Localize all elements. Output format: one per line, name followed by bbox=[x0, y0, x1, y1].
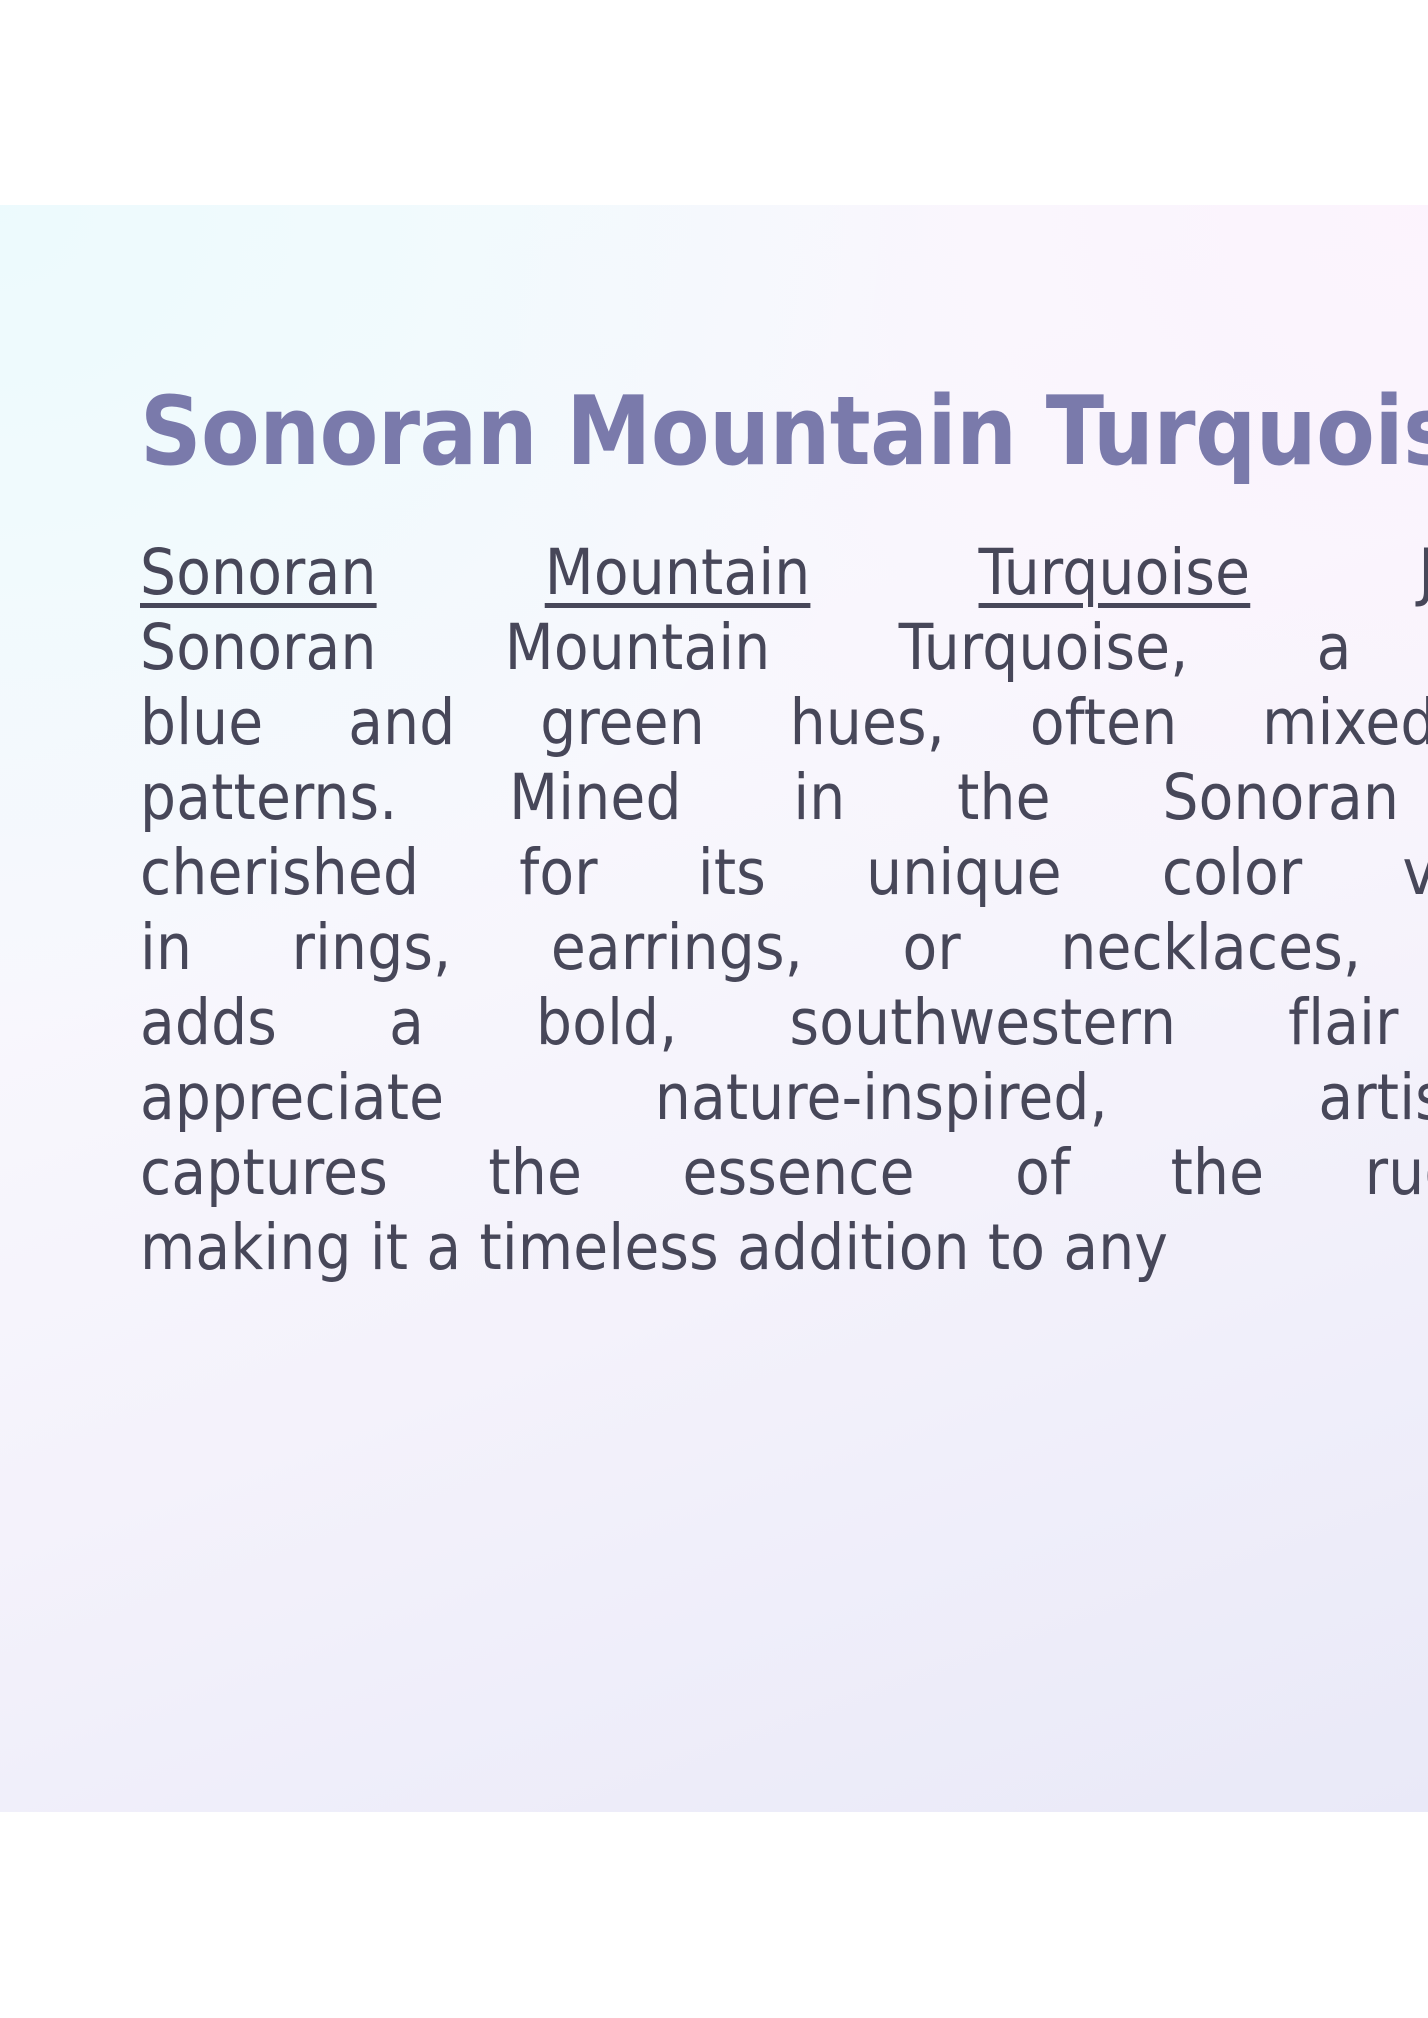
body-line-lead: SonoranMountainTurquoiseJewel bbox=[140, 535, 1428, 610]
body-line-6: inrings,earrings,ornecklaces,Son bbox=[140, 910, 1428, 985]
page-title: Sonoran Mountain Turquoise bbox=[140, 377, 1428, 487]
body-line-5: cherishedforitsuniquecolorvariat bbox=[140, 835, 1428, 910]
body-line-10: making it a timeless addition to any bbox=[140, 1210, 1428, 1285]
body-line-4: patterns.MinedintheSonoranre bbox=[140, 760, 1428, 835]
body-line-8: appreciatenature-inspired,artisan-c bbox=[140, 1060, 1428, 1135]
body-line-3: blueandgreenhues,oftenmixedw bbox=[140, 685, 1428, 760]
article-card-inner: Sonoran Mountain Turquoise SonoranMounta… bbox=[140, 205, 1428, 1812]
body-line-2: SonoranMountainTurquoise,astu bbox=[140, 610, 1428, 685]
body-line-7: addsabold,southwesternflairto bbox=[140, 985, 1428, 1060]
article-card: Sonoran Mountain Turquoise SonoranMounta… bbox=[0, 205, 1428, 1812]
page-root: Sonoran Mountain Turquoise SonoranMounta… bbox=[0, 0, 1428, 2018]
body-line-9: capturestheessenceoftherugged bbox=[140, 1135, 1428, 1210]
article-body: SonoranMountainTurquoiseJewel SonoranMou… bbox=[140, 535, 1428, 1285]
